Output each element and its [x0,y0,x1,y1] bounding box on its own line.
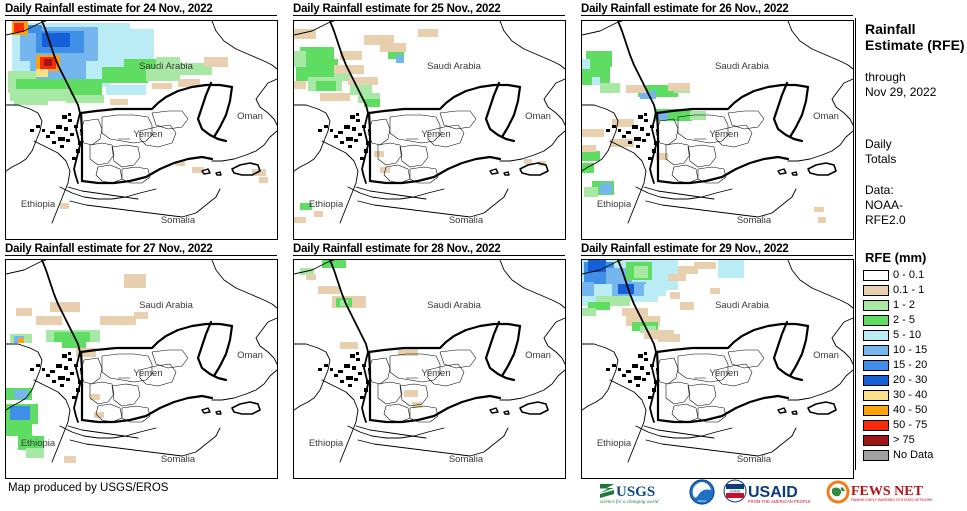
country-label: Ethiopia [21,199,56,210]
map-panel-27-nov: Daily Rainfall estimate for 27 Nov., 202… [5,242,277,256]
legend-swatch [863,450,889,461]
map-panel-24-nov: Daily Rainfall estimate for 24 Nov., 202… [5,2,277,16]
legend-label: 5 - 10 [893,330,921,341]
country-label: Somalia [161,454,196,465]
noaa-logo: NOAA [689,479,715,505]
usaid-logo: USAID USAID FROM THE AMERICAN PEOPLE [722,479,818,505]
sidebar-title-text: Rainfall Estimate (RFE) [865,21,965,53]
legend-row: 5 - 10 [863,328,967,343]
svg-text:USGS: USGS [616,484,655,500]
legend-swatch [863,420,889,431]
legend-row: 0 - 0.1 [863,268,967,283]
legend-label: 20 - 30 [893,375,927,386]
legend-label: 30 - 40 [893,390,927,401]
country-label: Yemen [709,368,738,379]
map-frame-24-nov[interactable]: Saudi ArabiaOmanYemenEthiopiaSomalia [5,20,278,240]
legend-swatch [863,345,889,356]
map-basemap [6,260,277,462]
legend-swatch [863,300,889,311]
country-label: Ethiopia [309,438,344,449]
sidebar-title: Rainfall Estimate (RFE) [865,22,965,53]
country-label: Oman [237,350,263,361]
panel-title-29-nov: Daily Rainfall estimate for 29 Nov., 202… [581,242,853,256]
sidebar-totals-block: Daily Totals [865,137,965,167]
legend-row: 50 - 75 [863,418,967,433]
country-label: Yemen [133,129,162,140]
legend-label: No Data [893,450,933,461]
map-canvas-24-nov: Saudi ArabiaOmanYemenEthiopiaSomalia [6,21,277,239]
country-label: Saudi Arabia [715,61,770,72]
sidebar-data-label: Data: [865,183,965,198]
country-label: Saudi Arabia [139,300,194,311]
country-label: Saudi Arabia [715,300,770,311]
legend-swatch [863,375,889,386]
legend: RFE (mm) 0 - 0.10.1 - 11 - 22 - 55 - 101… [863,250,967,463]
country-label: Somalia [449,454,484,465]
map-basemap [294,21,565,223]
sidebar-divider [855,18,856,470]
logo-strip: USGS science for a changing world NOAA U… [598,478,933,506]
map-panel-28-nov: Daily Rainfall estimate for 28 Nov., 202… [293,242,565,256]
country-label: Yemen [133,368,162,379]
map-panel-25-nov: Daily Rainfall estimate for 25 Nov., 202… [293,2,565,16]
legend-label: 1 - 2 [893,300,915,311]
map-panel-26-nov: Daily Rainfall estimate for 26 Nov., 202… [581,2,853,16]
legend-row: 40 - 50 [863,403,967,418]
panel-title-24-nov: Daily Rainfall estimate for 24 Nov., 202… [5,2,277,16]
sidebar-through-block: through Nov 29, 2022 [865,70,965,100]
legend-swatch [863,435,889,446]
map-credit: Map produced by USGS/EROS [8,482,168,494]
svg-text:FAMINE EARLY WARNING SYSTEMS N: FAMINE EARLY WARNING SYSTEMS NETWORK [851,498,933,502]
map-canvas-29-nov: Saudi ArabiaOmanYemenEthiopiaSomalia [582,260,853,478]
panel-title-25-nov: Daily Rainfall estimate for 25 Nov., 202… [293,2,565,16]
country-label: Saudi Arabia [139,61,194,72]
country-label: Oman [237,111,263,122]
country-label: Ethiopia [597,438,632,449]
legend-swatch [863,405,889,416]
sidebar-data-source-line1: NOAA- [865,198,965,213]
map-frame-28-nov[interactable]: Saudi ArabiaOmanYemenEthiopiaSomalia [293,259,566,479]
legend-label: 40 - 50 [893,405,927,416]
legend-row: No Data [863,448,967,463]
svg-text:FEWS NET: FEWS NET [851,484,924,499]
legend-swatch [863,315,889,326]
legend-row: 20 - 30 [863,373,967,388]
legend-row: 2 - 5 [863,313,967,328]
country-label: Yemen [421,129,450,140]
map-canvas-28-nov: Saudi ArabiaOmanYemenEthiopiaSomalia [294,260,565,478]
panel-title-27-nov: Daily Rainfall estimate for 27 Nov., 202… [5,242,277,256]
country-label: Somalia [449,215,484,226]
svg-text:NOAA: NOAA [698,499,707,503]
legend-label: 0.1 - 1 [893,285,924,296]
legend-row: 30 - 40 [863,388,967,403]
country-label: Oman [813,111,839,122]
country-label: Oman [525,111,551,122]
country-label: Somalia [161,215,196,226]
legend-label: 2 - 5 [893,315,915,326]
legend-label: 0 - 0.1 [893,270,924,281]
map-frame-27-nov[interactable]: Saudi ArabiaOmanYemenEthiopiaSomalia [5,259,278,479]
legend-swatch [863,360,889,371]
sidebar: Rainfall Estimate (RFE) through Nov 29, … [855,0,967,511]
legend-swatch [863,270,889,281]
panel-title-26-nov: Daily Rainfall estimate for 26 Nov., 202… [581,2,853,16]
rainfall-raster-24-nov [8,21,268,209]
map-frame-26-nov[interactable]: Saudi ArabiaOmanYemenEthiopiaSomalia [581,20,854,240]
legend-row: > 75 [863,433,967,448]
country-label: Oman [525,350,551,361]
legend-label: 15 - 20 [893,360,927,371]
legend-rows: 0 - 0.10.1 - 11 - 22 - 55 - 1010 - 1515 … [863,268,967,463]
country-label: Ethiopia [309,199,344,210]
map-panel-29-nov: Daily Rainfall estimate for 29 Nov., 202… [581,242,853,256]
legend-swatch [863,285,889,296]
svg-text:USAID: USAID [730,490,741,494]
legend-row: 1 - 2 [863,298,967,313]
sidebar-totals-line1: Daily [865,137,965,152]
sidebar-through-label: through [865,70,965,85]
legend-row: 10 - 15 [863,343,967,358]
map-canvas-25-nov: Saudi ArabiaOmanYemenEthiopiaSomalia [294,21,565,239]
panel-title-28-nov: Daily Rainfall estimate for 28 Nov., 202… [293,242,565,256]
country-label: Yemen [709,129,738,140]
legend-row: 15 - 20 [863,358,967,373]
sidebar-through-date: Nov 29, 2022 [865,85,965,100]
legend-swatch [863,390,889,401]
country-label: Ethiopia [21,438,56,449]
legend-label: 10 - 15 [893,345,927,356]
country-label: Somalia [737,215,772,226]
sidebar-data-block: Data: NOAA- RFE2.0 [865,183,965,228]
legend-swatch [863,330,889,341]
legend-title: RFE (mm) [865,250,967,265]
map-frame-25-nov[interactable]: Saudi ArabiaOmanYemenEthiopiaSomalia [293,20,566,240]
legend-label: > 75 [893,435,915,446]
country-label: Yemen [421,368,450,379]
country-label: Saudi Arabia [427,300,482,311]
country-label: Saudi Arabia [427,61,482,72]
map-frame-29-nov[interactable]: Saudi ArabiaOmanYemenEthiopiaSomalia [581,259,854,479]
legend-row: 0.1 - 1 [863,283,967,298]
svg-text:FROM THE AMERICAN PEOPLE: FROM THE AMERICAN PEOPLE [748,499,811,504]
svg-text:science for a changing world: science for a changing world [600,500,659,505]
sidebar-totals-line2: Totals [865,152,965,167]
map-canvas-27-nov: Saudi ArabiaOmanYemenEthiopiaSomalia [6,260,277,478]
legend-label: 50 - 75 [893,420,927,431]
sidebar-data-source-line2: RFE2.0 [865,213,965,228]
fewsnet-logo: FEWS NET FAMINE EARLY WARNING SYSTEMS NE… [825,479,933,505]
country-label: Oman [813,350,839,361]
country-label: Somalia [737,454,772,465]
map-canvas-26-nov: Saudi ArabiaOmanYemenEthiopiaSomalia [582,21,853,239]
country-label: Ethiopia [597,199,632,210]
usgs-logo: USGS science for a changing world [598,479,682,505]
